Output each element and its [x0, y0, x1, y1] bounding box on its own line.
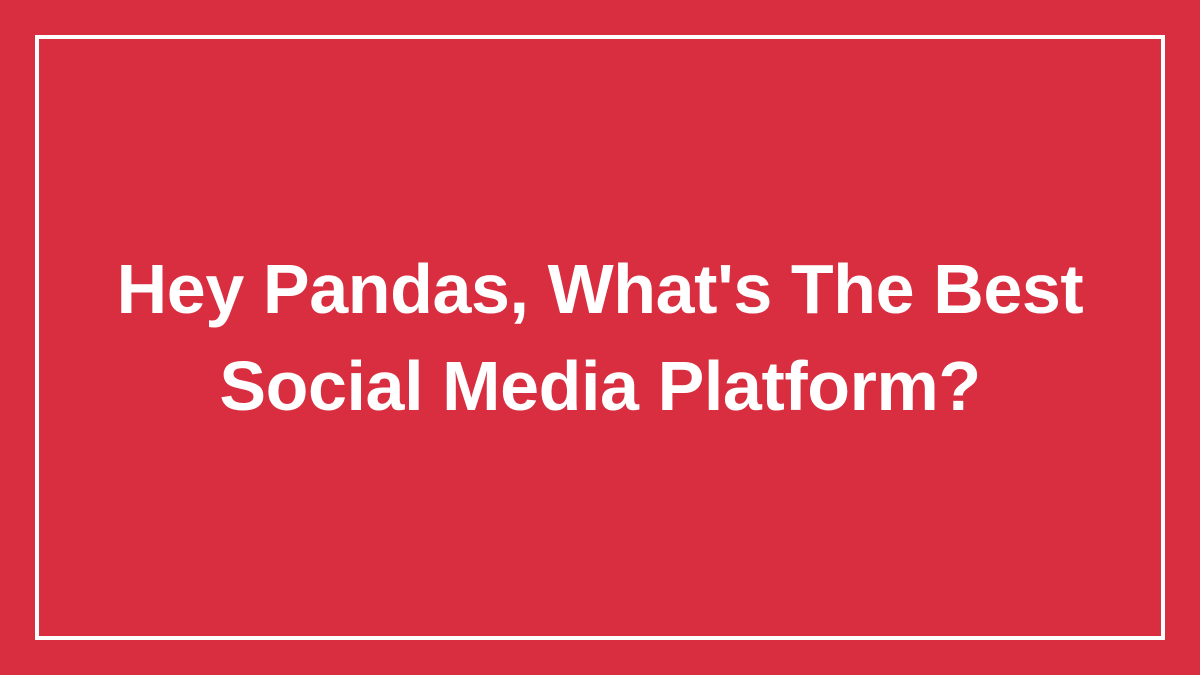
- decorative-border-frame: [35, 35, 1165, 640]
- poster-canvas: Hey Pandas, What's The Best Social Media…: [0, 0, 1200, 675]
